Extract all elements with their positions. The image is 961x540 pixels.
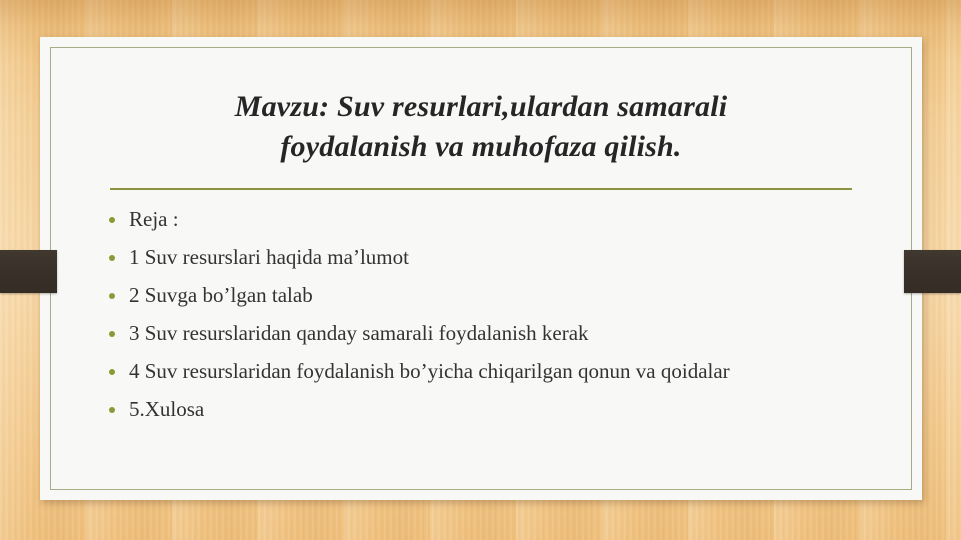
list-item-label: Reja : bbox=[129, 207, 179, 231]
list-item-label: 5.Xulosa bbox=[129, 397, 204, 421]
list-item: 4 Suv resurslaridan foydalanish bo’yicha… bbox=[102, 357, 892, 386]
bullet-dot-icon bbox=[109, 331, 115, 337]
list-item: 1 Suv resurslari haqida ma’lumot bbox=[102, 243, 892, 272]
decor-side-tab-left bbox=[0, 250, 57, 293]
list-item-label: 4 Suv resurslaridan foydalanish bo’yicha… bbox=[129, 359, 730, 383]
decor-side-tab-right bbox=[904, 250, 961, 293]
slide-title: Mavzu: Suv resurlari,ulardan samarali fo… bbox=[110, 87, 852, 167]
bullet-dot-icon bbox=[109, 407, 115, 413]
slide-content: Mavzu: Suv resurlari,ulardan samarali fo… bbox=[40, 37, 922, 500]
list-item-label: 2 Suvga bo’lgan talab bbox=[129, 283, 313, 307]
list-item-label: 3 Suv resurslaridan qanday samarali foyd… bbox=[129, 321, 589, 345]
list-item: 2 Suvga bo’lgan talab bbox=[102, 281, 892, 310]
list-item: Reja : bbox=[102, 205, 892, 234]
slide-title-line-2: foydalanish va muhofaza qilish. bbox=[280, 130, 681, 163]
bullet-dot-icon bbox=[109, 217, 115, 223]
title-divider-rule bbox=[110, 188, 852, 190]
bullet-dot-icon bbox=[109, 369, 115, 375]
bullet-dot-icon bbox=[109, 255, 115, 261]
slide-title-line-1: Mavzu: Suv resurlari,ulardan samarali bbox=[235, 90, 728, 123]
list-item: 3 Suv resurslaridan qanday samarali foyd… bbox=[102, 319, 892, 348]
list-item-label: 1 Suv resurslari haqida ma’lumot bbox=[129, 245, 409, 269]
agenda-bullet-list: Reja : 1 Suv resurslari haqida ma’lumot … bbox=[102, 205, 892, 424]
slide-card: Mavzu: Suv resurlari,ulardan samarali fo… bbox=[40, 37, 922, 500]
slide-stage: Mavzu: Suv resurlari,ulardan samarali fo… bbox=[0, 0, 961, 540]
list-item: 5.Xulosa bbox=[102, 395, 892, 424]
bullet-dot-icon bbox=[109, 293, 115, 299]
